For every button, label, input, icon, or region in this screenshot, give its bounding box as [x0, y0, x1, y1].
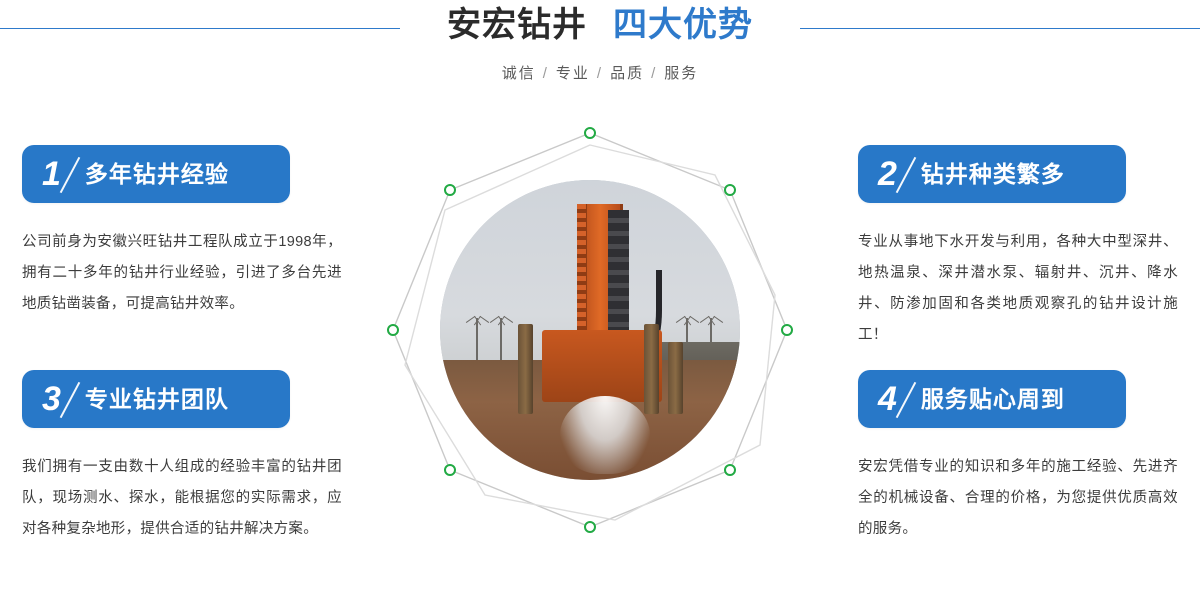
feature-number-2: 2 — [878, 157, 901, 191]
header-subtitle: 诚信/专业/品质/服务 — [0, 62, 1200, 83]
feature-body-1: 公司前身为安徽兴旺钻井工程队成立于1998年，拥有二十多年的钻井行业经验，引进了… — [22, 227, 342, 320]
subtitle-item-1: 诚信 — [502, 65, 536, 82]
feature-badge-4[interactable]: 4 服务贴心周到 — [858, 370, 1126, 428]
vertex-node-n — [585, 128, 595, 138]
photo-rig-leg-right-2 — [668, 342, 683, 414]
vertex-node-e — [782, 325, 792, 335]
feature-card-3: 3 专业钻井团队 我们拥有一支由数十人组成的经验丰富的钻井团队，现场测水、探水，… — [22, 370, 352, 545]
feature-title-2: 钻井种类繁多 — [921, 163, 1065, 186]
subtitle-separator-1: / — [543, 65, 549, 82]
photo-rig-leg-right — [644, 324, 659, 414]
feature-number-3: 3 — [42, 382, 65, 416]
feature-body-4: 安宏凭借专业的知识和多年的施工经验、先进齐全的机械设备、合理的价格，为您提供优质… — [858, 452, 1178, 545]
feature-card-1: 1 多年钻井经验 公司前身为安徽兴旺钻井工程队成立于1998年，拥有二十多年的钻… — [22, 145, 352, 320]
subtitle-item-4: 服务 — [664, 65, 698, 82]
drilling-rig-photo — [440, 180, 740, 480]
feature-card-4: 4 服务贴心周到 安宏凭借专业的知识和多年的施工经验、先进齐全的机械设备、合理的… — [858, 370, 1188, 545]
title-accent-text: 四大优势 — [613, 6, 753, 44]
feature-number-4: 4 — [878, 382, 901, 416]
feature-body-2: 专业从事地下水开发与利用，各种大中型深井、地热温泉、深井潜水泵、辐射井、沉井、降… — [858, 227, 1178, 351]
feature-card-2: 2 钻井种类繁多 专业从事地下水开发与利用，各种大中型深井、地热温泉、深井潜水泵… — [858, 145, 1188, 351]
page-title: 安宏钻井四大优势 — [0, 8, 1200, 42]
feature-title-3: 专业钻井团队 — [85, 388, 229, 411]
feature-badge-1[interactable]: 1 多年钻井经验 — [22, 145, 290, 203]
photo-tree-1 — [476, 318, 478, 366]
feature-badge-3[interactable]: 3 专业钻井团队 — [22, 370, 290, 428]
photo-water-spray — [560, 396, 650, 474]
subtitle-item-2: 专业 — [556, 65, 590, 82]
feature-body-3: 我们拥有一支由数十人组成的经验丰富的钻井团队，现场测水、探水，能根据您的实际需求… — [22, 452, 342, 545]
feature-badge-2[interactable]: 2 钻井种类繁多 — [858, 145, 1126, 203]
page-header: 安宏钻井四大优势 诚信/专业/品质/服务 — [0, 0, 1200, 110]
feature-title-4: 服务贴心周到 — [921, 388, 1065, 411]
center-graphic — [375, 115, 805, 545]
vertex-node-s — [585, 522, 595, 532]
photo-tree-2 — [500, 318, 502, 366]
subtitle-separator-2: / — [597, 65, 603, 82]
subtitle-item-3: 品质 — [610, 65, 644, 82]
photo-rig-leg-left — [518, 324, 533, 414]
title-main-text: 安宏钻井 — [447, 6, 587, 44]
feature-number-1: 1 — [42, 157, 65, 191]
feature-title-1: 多年钻井经验 — [85, 163, 229, 186]
subtitle-separator-3: / — [651, 65, 657, 82]
vertex-node-w — [388, 325, 398, 335]
